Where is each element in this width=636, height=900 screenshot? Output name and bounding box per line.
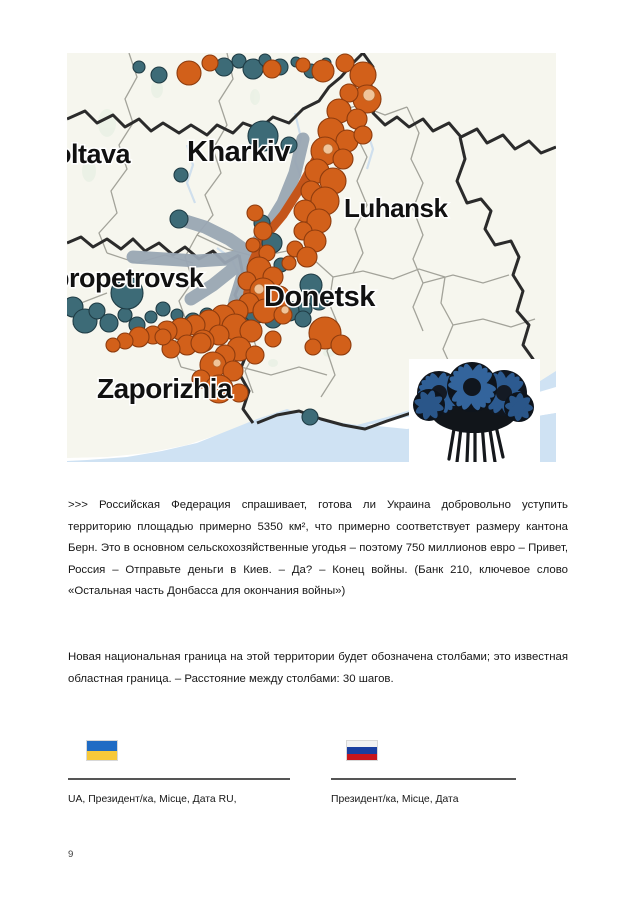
paragraph-russian-federation-question: >>> Российская Федерация спрашивает, гот…	[68, 495, 568, 603]
signature-column-ukraine: UA, Президент/ка, Місце, Дата RU,	[68, 740, 328, 805]
map-figure: oltava Kharkiv Luhansk propetrovsk Donet…	[67, 53, 556, 462]
bouquet-graphic	[409, 359, 540, 462]
page-number: 9	[68, 849, 73, 860]
map-label-luhansk: Luhansk	[344, 193, 447, 224]
map-label-zaporizhia: Zaporizhia	[97, 373, 232, 405]
flag-ukraine-icon	[86, 740, 118, 761]
map-label-dnipropetrovsk: propetrovsk	[67, 263, 204, 294]
signature-caption-ukraine: UA, Президент/ка, Місце, Дата RU,	[68, 794, 328, 805]
map-label-donetsk: Donetsk	[264, 281, 375, 314]
flag-ua-blue-stripe	[87, 741, 117, 751]
paragraph-new-national-border: Новая национальная граница на этой терри…	[68, 647, 568, 690]
flag-ua-yellow-stripe	[87, 751, 117, 761]
flag-russia-icon	[346, 740, 378, 761]
flag-ru-red-stripe	[347, 754, 377, 760]
signature-line-ukraine	[68, 778, 290, 780]
signature-column-russia: Президент/ка, Місце, Дата	[328, 740, 568, 805]
blue-flower-bouquet-photo	[409, 359, 540, 462]
signature-line-russia	[331, 778, 516, 780]
map-label-kharkiv: Kharkiv	[187, 136, 290, 169]
signature-block: UA, Президент/ка, Місце, Дата RU, Презид…	[68, 740, 568, 805]
map-label-poltava: oltava	[67, 139, 130, 170]
signature-caption-russia: Президент/ка, Місце, Дата	[331, 794, 568, 805]
